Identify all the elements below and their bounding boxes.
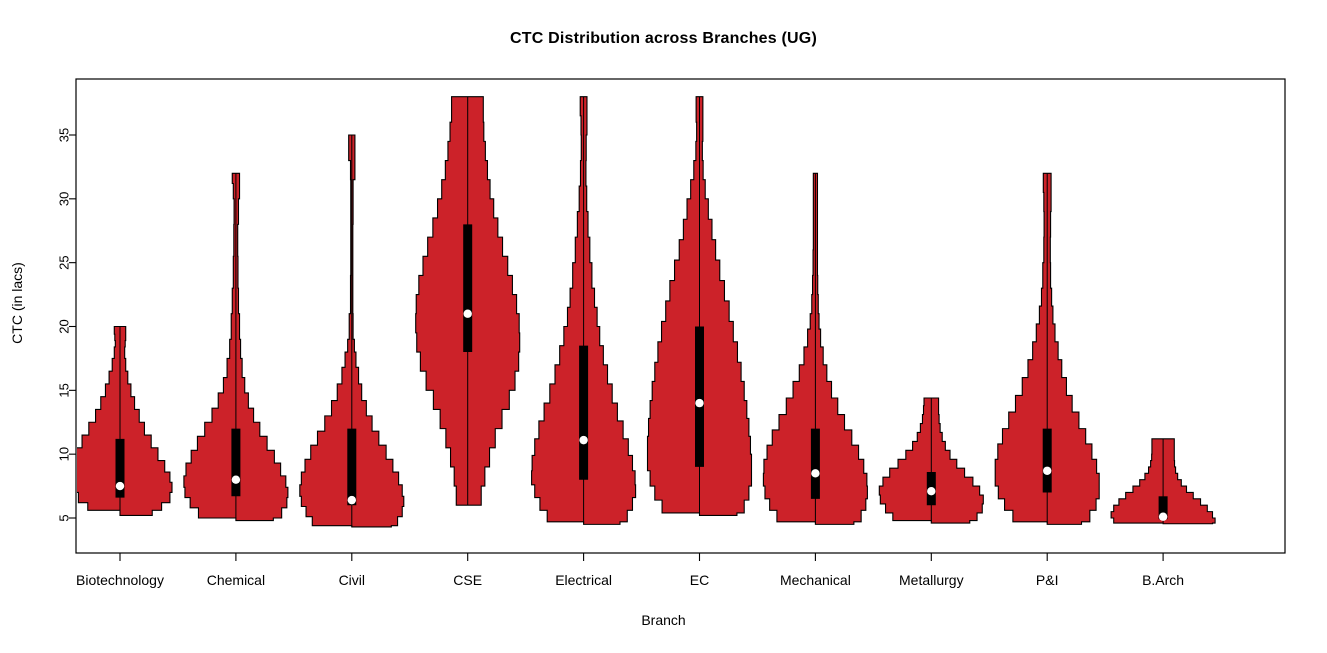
violin-chemical — [184, 173, 288, 520]
y-tick-label: 5 — [57, 514, 72, 521]
x-tick-label-ec: EC — [690, 572, 709, 588]
median-marker — [579, 436, 587, 444]
violin-plot-figure: CTC Distribution across Branches (UG) CT… — [0, 0, 1327, 653]
median-marker — [1159, 513, 1167, 521]
y-tick-label: 10 — [57, 447, 72, 461]
y-tick-label: 15 — [57, 383, 72, 397]
violin-mechanical — [763, 173, 867, 524]
median-marker — [695, 399, 703, 407]
violin-electrical — [532, 97, 636, 525]
x-tick-label-p-i: P&I — [1036, 572, 1059, 588]
violin-biotechnology — [68, 327, 172, 516]
violin-p-i — [995, 173, 1099, 524]
y-tick-label: 25 — [57, 255, 72, 269]
x-tick-label-biotechnology: Biotechnology — [76, 572, 164, 588]
violin-metallurgy — [879, 398, 983, 523]
median-marker — [1043, 467, 1051, 475]
median-marker — [116, 482, 124, 490]
y-tick-label: 35 — [57, 128, 72, 142]
median-marker — [927, 487, 935, 495]
x-tick-label-b-arch: B.Arch — [1142, 572, 1184, 588]
x-tick-label-chemical: Chemical — [207, 572, 265, 588]
x-tick-label-civil: Civil — [339, 572, 365, 588]
median-marker — [232, 476, 240, 484]
x-tick-label-mechanical: Mechanical — [780, 572, 851, 588]
plot-canvas: 5101520253035BiotechnologyChemicalCivilC… — [0, 0, 1327, 653]
violins-layer — [68, 97, 1215, 527]
violin-b-arch — [1111, 439, 1215, 524]
median-marker — [464, 310, 472, 318]
x-tick-label-electrical: Electrical — [555, 572, 612, 588]
median-marker — [811, 469, 819, 477]
violin-ec — [648, 97, 752, 516]
x-tick-label-metallurgy: Metallurgy — [899, 572, 964, 588]
median-marker — [348, 496, 356, 504]
violin-cse — [416, 97, 520, 506]
y-tick-label: 20 — [57, 319, 72, 333]
violin-civil — [300, 135, 404, 527]
y-tick-label: 30 — [57, 192, 72, 206]
x-tick-label-cse: CSE — [453, 572, 482, 588]
